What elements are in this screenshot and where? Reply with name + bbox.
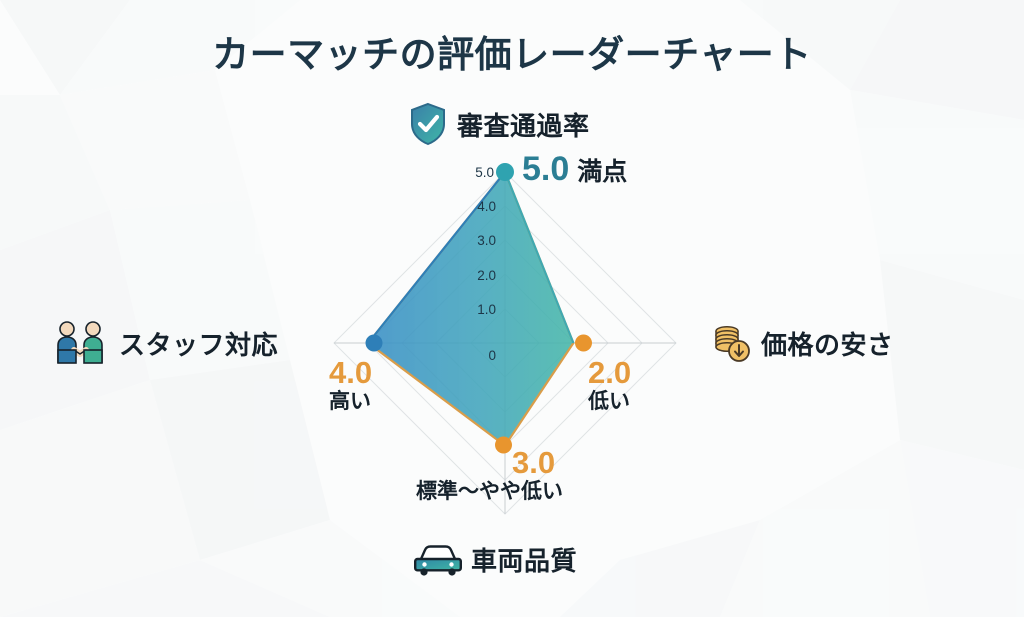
value-annotation-bottom: 3.0 標準〜やや低い xyxy=(512,447,563,504)
axis-label-left-text: スタッフ対応 xyxy=(119,325,278,362)
vertex-dot-left xyxy=(366,335,383,352)
screenshot-canvas: カーマッチの評価レーダーチャート xyxy=(0,0,1024,617)
value-left-description: 高い xyxy=(329,390,372,414)
axis-label-top-text: 審査通過率 xyxy=(457,106,590,143)
tick-label-2: 2.0 xyxy=(477,268,496,283)
car-icon xyxy=(414,543,462,577)
tick-label-1: 1.0 xyxy=(477,302,496,317)
vertex-dot-bottom xyxy=(495,437,512,454)
value-top-description: 満点 xyxy=(577,158,627,187)
axis-label-top: 審査通過率 xyxy=(408,102,590,146)
value-annotation-right: 2.0 低い xyxy=(588,357,631,414)
value-bottom-description: 標準〜やや低い xyxy=(416,480,563,504)
vertex-dot-right xyxy=(575,335,592,352)
tick-label-4: 4.0 xyxy=(477,199,496,214)
axis-label-right: 価格の安さ xyxy=(710,322,894,364)
tick-label-3: 3.0 xyxy=(477,233,496,248)
vertex-dot-top xyxy=(496,163,514,181)
value-top-number: 5.0 xyxy=(522,152,569,188)
radar-chart: 5.0 4.0 3.0 2.0 1.0 0 xyxy=(0,0,1024,617)
value-annotation-left: 4.0 高い xyxy=(329,357,372,414)
value-right-description: 低い xyxy=(588,390,631,414)
value-right-number: 2.0 xyxy=(588,357,631,390)
tick-label-5: 5.0 xyxy=(475,165,494,180)
shield-check-icon xyxy=(408,102,448,146)
tick-label-0: 0 xyxy=(488,348,496,363)
coins-down-arrow-icon xyxy=(710,322,752,364)
axis-label-left: スタッフ対応 xyxy=(52,320,278,366)
page-title: カーマッチの評価レーダーチャート xyxy=(0,24,1024,78)
axis-label-bottom-text: 車両品質 xyxy=(471,541,577,578)
handshake-icon xyxy=(52,320,110,366)
value-bottom-number: 3.0 xyxy=(512,447,563,480)
value-left-number: 4.0 xyxy=(329,357,372,390)
axis-label-right-text: 価格の安さ xyxy=(761,325,894,362)
axis-label-bottom: 車両品質 xyxy=(414,541,577,578)
value-annotation-top: 5.0 満点 xyxy=(522,152,627,188)
